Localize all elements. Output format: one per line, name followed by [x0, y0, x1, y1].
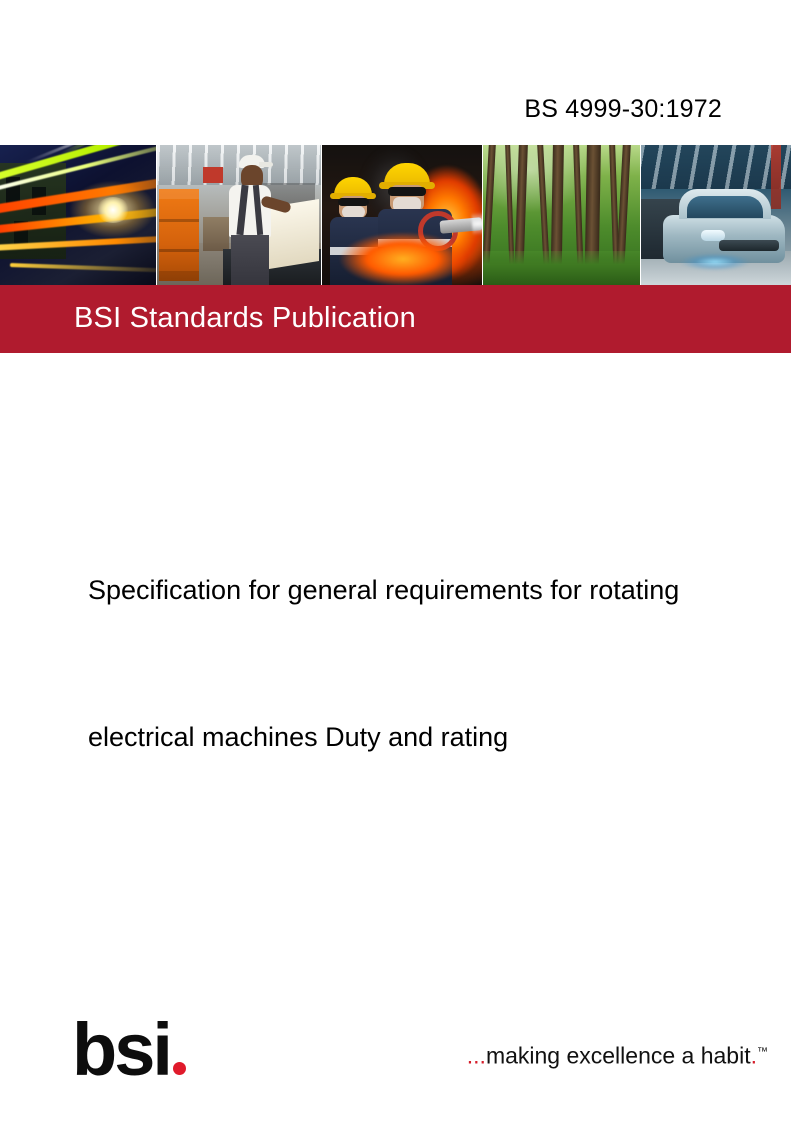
forest-undergrowth: [483, 251, 640, 285]
warehouse-orange-crate: [159, 189, 199, 281]
assembly-underglow: [671, 251, 759, 273]
flame-foreground: [328, 231, 478, 285]
worker-shirt: [229, 185, 271, 237]
car-windscreen: [687, 196, 763, 218]
assembly-ceiling-lights: [641, 145, 791, 189]
page-title: Specification for general requirements f…: [88, 468, 800, 860]
warehouse-worker-figure: [217, 155, 287, 285]
tagline-ellipsis: ...: [467, 1043, 486, 1069]
title-line-2: electrical machines Duty and rating: [88, 713, 800, 762]
standard-number: BS 4999-30:1972: [524, 94, 722, 124]
trademark-icon: ™: [757, 1046, 768, 1058]
banner-panel-forest: [483, 145, 641, 285]
banner-image-strip: [0, 145, 791, 285]
banner-panel-firefighters: [322, 145, 482, 285]
banner-panel-car-assembly: [641, 145, 791, 285]
car-grille: [719, 240, 779, 251]
bsi-tagline: ...making excellence a habit.™: [467, 1038, 768, 1070]
worker-trousers: [231, 235, 269, 285]
bsi-logo: bsi: [72, 1018, 186, 1080]
cover-page: BS 4999-30:1972: [0, 0, 800, 1132]
bsi-logo-dot-icon: [173, 1062, 186, 1075]
title-line-1: Specification for general requirements f…: [88, 566, 800, 615]
light-trails-headlamp-glow: [96, 197, 130, 223]
cover-banner: BSI Standards Publication: [0, 145, 791, 353]
brand-red-band: BSI Standards Publication: [0, 285, 791, 353]
tagline-text: making excellence a habit: [486, 1043, 751, 1069]
helmet-visor: [388, 187, 426, 196]
banner-panel-light-trails: [0, 145, 157, 285]
helmet-visor: [338, 198, 369, 206]
bsi-logo-text: bsi: [72, 1020, 170, 1080]
publication-type-label: BSI Standards Publication: [74, 301, 416, 335]
banner-panel-warehouse-worker: [157, 145, 322, 285]
